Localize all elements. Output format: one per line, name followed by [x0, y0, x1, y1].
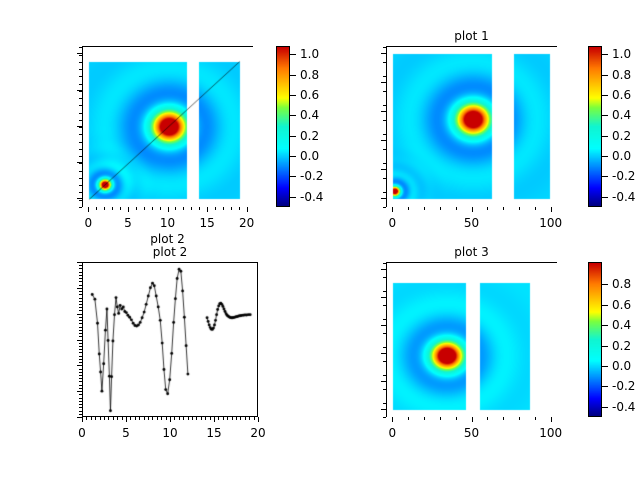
panel-bottom-left-xtick-minor	[113, 417, 114, 420]
panel-bottom-left-ytick-minor	[79, 327, 82, 328]
panel-top-right-ytick-minor	[383, 76, 386, 77]
panel-bottom-left-xticklabel: 15	[206, 427, 221, 439]
panel-top-left-colorbar-tick	[290, 156, 296, 157]
panel-top-left-colorbar-label: 0.8	[300, 69, 319, 81]
panel-bottom-left-xtick-minor	[210, 417, 211, 420]
panel-bottom-right-ytick	[381, 325, 386, 326]
panel-top-left-colorbar-label: 0.0	[300, 150, 319, 162]
panel-top-left-colorbar-gradient	[277, 47, 289, 206]
panel-bottom-left-xtick-minor	[157, 417, 158, 420]
panel-bottom-right-ytick-minor	[383, 347, 386, 348]
panel-top-left-xlabel: plot 2	[150, 233, 184, 245]
panel-bottom-right-xticklabel: 100	[539, 427, 562, 439]
panel-bottom-left-xtick-minor	[188, 417, 189, 420]
panel-top-left-ytick-minor	[79, 69, 82, 70]
panel-bottom-right-ytick	[381, 409, 386, 410]
panel-bottom-left-ytick-minor	[79, 346, 82, 347]
panel-top-right-xtick-minor	[456, 207, 457, 210]
panel-bottom-left-ytick-minor	[79, 330, 82, 331]
panel-top-right-colorbar-tick	[602, 95, 608, 96]
panel-top-left-ytick-minor	[79, 84, 82, 85]
panel-bottom-right-xtick	[472, 417, 473, 422]
panel-bottom-right-colorbar[interactable]	[588, 262, 602, 417]
panel-top-right-ytick-minor	[383, 62, 386, 63]
panel-top-right-colorbar-tick	[602, 75, 608, 76]
panel-top-right-colorbar-tick	[602, 197, 608, 198]
panel-bottom-left-ytick-minor	[79, 323, 82, 324]
panel-bottom-right-colorbar-label: -0.2	[612, 380, 635, 392]
panel-bottom-left-ytick	[77, 391, 82, 392]
panel-top-right-colorbar-label: 0.2	[612, 130, 631, 142]
panel-bottom-right-xtick-minor	[408, 417, 409, 420]
panel-top-right-colorbar-label: -0.2	[612, 170, 635, 182]
panel-bottom-left-xtick-minor	[196, 417, 197, 420]
panel-bottom-left-xtick-minor	[254, 417, 255, 420]
panel-top-right-ytick-minor	[383, 120, 386, 121]
panel-top-right-ytick-minor	[383, 134, 386, 135]
panel-bottom-left-xtick-minor	[139, 417, 140, 420]
panel-bottom-right-ytick-minor	[383, 333, 386, 334]
panel-top-right-xtick-minor	[503, 207, 504, 210]
panel-bottom-left-xtick-minor	[152, 417, 153, 420]
panel-bottom-left-xtick-minor	[240, 417, 241, 420]
panel-bottom-left-xtick-minor	[227, 417, 228, 420]
panel-bottom-left-ytick	[77, 365, 82, 366]
panel-bottom-left-xtick-minor	[179, 417, 180, 420]
panel-top-left-ytick-minor	[79, 192, 82, 193]
panel-top-left-colorbar-tick	[290, 136, 296, 137]
panel-bottom-right-xtick-minor	[440, 417, 441, 420]
panel-top-left-xticklabel: 10	[160, 217, 175, 229]
panel-top-right-xticklabel: 0	[389, 217, 397, 229]
panel-bottom-left-xtick-minor	[100, 417, 101, 420]
panel-top-left-ytick	[77, 53, 82, 54]
panel-top-right-ytick-minor	[383, 163, 386, 164]
panel-bottom-right-ytick	[381, 269, 386, 270]
panel-top-left-colorbar[interactable]	[276, 46, 290, 207]
panel-bottom-left-ytick-minor	[79, 378, 82, 379]
panel-bottom-right-colorbar-tick	[602, 325, 608, 326]
panel-top-left-colorbar-label: -0.2	[300, 170, 323, 182]
panel-top-left-ytick-minor	[79, 149, 82, 150]
panel-top-left-xtick	[88, 207, 89, 212]
panel-top-right-colorbar-label: 0.4	[612, 109, 631, 121]
panel-bottom-right-ytick-minor	[383, 375, 386, 376]
panel-bottom-left-xtick-minor	[144, 417, 145, 420]
panel-bottom-left-ytick-minor	[79, 349, 82, 350]
panel-bottom-right-ytick-minor	[383, 361, 386, 362]
panel-top-left-colorbar-tick	[290, 115, 296, 116]
panel-bottom-left-ytick	[77, 262, 82, 263]
panel-bottom-left-ytick-minor	[79, 265, 82, 266]
panel-bottom-left-xtick-minor	[249, 417, 250, 420]
panel-top-left-ytick-minor	[79, 55, 82, 56]
panel-top-right-ytick-minor	[383, 149, 386, 150]
panel-bottom-left-ytick-minor	[79, 294, 82, 295]
panel-top-right-colorbar[interactable]	[588, 46, 602, 207]
panel-top-right-ytick-minor	[383, 192, 386, 193]
panel-bottom-right-colorbar-label: 0.2	[612, 340, 631, 352]
panel-bottom-right-ytick-minor	[383, 291, 386, 292]
panel-bottom-right-colorbar-gradient	[589, 263, 601, 416]
panel-bottom-left-ytick-minor	[79, 320, 82, 321]
panel-top-right-xticklabel: 100	[539, 217, 562, 229]
panel-bottom-left-xtick	[214, 417, 215, 422]
panel-bottom-left-ytick-minor	[79, 285, 82, 286]
panel-top-left-ytick-minor	[79, 200, 82, 201]
panel-top-right-xtick-minor	[408, 207, 409, 210]
panel-bottom-left-ytick-minor	[79, 356, 82, 357]
panel-bottom-right-colorbar-tick	[602, 407, 608, 408]
panel-top-left-ytick-minor	[79, 62, 82, 63]
panel-bottom-left-xtick-minor	[104, 417, 105, 420]
panel-top-left-ytick-minor	[79, 91, 82, 92]
panel-bottom-right-ytick	[381, 353, 386, 354]
panel-top-left-xtick	[247, 207, 248, 212]
panel-top-left-xtick-minor	[112, 207, 113, 210]
panel-top-left-ytick-minor	[79, 47, 82, 48]
panel-bottom-left-xtick	[82, 417, 83, 422]
panel-bottom-right-xticklabel: 50	[464, 427, 479, 439]
panel-top-left-ytick	[77, 198, 82, 199]
panel-top-right-ytick	[381, 111, 386, 112]
panel-top-left-xticklabel: 15	[199, 217, 214, 229]
panel-bottom-right-heatmap	[387, 263, 558, 418]
panel-bottom-left-ytick-minor	[79, 291, 82, 292]
panel-top-right-xtick-minor	[424, 207, 425, 210]
panel-bottom-left-xtick-minor	[91, 417, 92, 420]
panel-top-right-colorbar-label: 1.0	[612, 48, 631, 60]
panel-top-left-xtick	[168, 207, 169, 212]
panel-bottom-right-xtick-minor	[424, 417, 425, 420]
panel-bottom-right-xtick-minor	[535, 417, 536, 420]
panel-bottom-right-colorbar-label: 0.0	[612, 360, 631, 372]
panel-bottom-left-xticklabel: 10	[162, 427, 177, 439]
panel-top-right-ytick-minor	[383, 105, 386, 106]
panel-top-left-xticklabel: 0	[85, 217, 93, 229]
panel-bottom-left-ytick-minor	[79, 278, 82, 279]
panel-bottom-left-ytick-minor	[79, 317, 82, 318]
panel-bottom-left-ytick-minor	[79, 304, 82, 305]
panel-bottom-left-xtick-minor	[223, 417, 224, 420]
panel-bottom-left-ytick-minor	[79, 381, 82, 382]
panel-bottom-left-ytick-minor	[79, 343, 82, 344]
panel-bottom-left-xtick	[170, 417, 171, 422]
panel-bottom-left-ytick-minor	[79, 385, 82, 386]
panel-bottom-right-xtick-minor	[519, 417, 520, 420]
panel-top-left-xticklabel: 20	[239, 217, 254, 229]
panel-top-left-xtick-minor	[231, 207, 232, 210]
panel-top-left-xtick-minor	[144, 207, 145, 210]
panel-top-left-xtick-minor	[120, 207, 121, 210]
panel-bottom-left-ytick-minor	[79, 369, 82, 370]
panel-top-left-ytick-minor	[79, 171, 82, 172]
panel-bottom-left-ytick-minor	[79, 307, 82, 308]
panel-bottom-left-ytick-minor	[79, 281, 82, 282]
panel-bottom-left-ytick-minor	[79, 362, 82, 363]
panel-top-left-heatmap	[83, 47, 254, 208]
panel-top-left-xtick	[128, 207, 129, 212]
panel-bottom-right-xtick-minor	[487, 417, 488, 420]
panel-bottom-left-ytick-minor	[79, 407, 82, 408]
panel-top-right-xtick-minor	[535, 207, 536, 210]
panel-top-left-xtick-minor	[223, 207, 224, 210]
panel-top-left-ytick-minor	[79, 127, 82, 128]
panel-top-right-colorbar-label: 0.0	[612, 150, 631, 162]
panel-top-right-xtick	[551, 207, 552, 212]
panel-top-left-ytick	[77, 126, 82, 127]
panel-top-right-xtick	[472, 207, 473, 212]
panel-top-left-ytick-minor	[79, 98, 82, 99]
panel-top-left-xtick-minor	[104, 207, 105, 210]
panel-bottom-left-ytick	[77, 314, 82, 315]
panel-top-left-ytick-minor	[79, 163, 82, 164]
panel-top-left-ytick-minor	[79, 113, 82, 114]
panel-top-right-colorbar-tick	[602, 156, 608, 157]
panel-top-left-colorbar-tick	[290, 75, 296, 76]
panel-bottom-left-xtick	[126, 417, 127, 422]
panel-top-left-xtick-minor	[199, 207, 200, 210]
panel-top-left-xtick-minor	[215, 207, 216, 210]
panel-top-left-xtick-minor	[191, 207, 192, 210]
panel-top-left-ytick-minor	[79, 76, 82, 77]
panel-top-left-xtick	[207, 207, 208, 212]
panel-bottom-left-xtick-minor	[201, 417, 202, 420]
panel-top-left-colorbar-label: -0.4	[300, 191, 323, 203]
panel-top-left-colorbar-tick	[290, 95, 296, 96]
panel-bottom-right-colorbar-label: -0.4	[612, 401, 635, 413]
panel-bottom-left-ytick-minor	[79, 268, 82, 269]
panel-top-left-axes[interactable]	[82, 46, 253, 207]
panel-bottom-right-xtick	[551, 417, 552, 422]
panel-bottom-right-colorbar-label: 0.6	[612, 299, 631, 311]
panel-bottom-left-xtick-minor	[95, 417, 96, 420]
panel-top-right-xtick-minor	[440, 207, 441, 210]
panel-top-left-xtick-minor	[152, 207, 153, 210]
panel-top-right-colorbar-tick	[602, 176, 608, 177]
panel-top-right-colorbar-label: 0.6	[612, 89, 631, 101]
panel-top-left-ytick-minor	[79, 105, 82, 106]
panel-bottom-left-ytick	[77, 417, 82, 418]
panel-bottom-right-ytick-minor	[383, 389, 386, 390]
panel-bottom-left-xtick-minor	[236, 417, 237, 420]
panel-bottom-left-ytick-minor	[79, 388, 82, 389]
panel-bottom-left-xtick-minor	[192, 417, 193, 420]
panel-bottom-left-xtick-minor	[108, 417, 109, 420]
panel-top-right-ytick	[381, 198, 386, 199]
panel-top-right-xtick-minor	[519, 207, 520, 210]
panel-top-right-title: plot 1	[454, 30, 488, 42]
panel-bottom-left-xtick-minor	[86, 417, 87, 420]
panel-bottom-left-xtick-minor	[218, 417, 219, 420]
panel-top-right-xtick	[392, 207, 393, 212]
panel-bottom-right-ytick-minor	[383, 263, 386, 264]
panel-top-right-colorbar-label: -0.4	[612, 191, 635, 203]
panel-bottom-right-xtick-minor	[503, 417, 504, 420]
panel-bottom-left-xtick-minor	[117, 417, 118, 420]
panel-bottom-left-ytick-minor	[79, 404, 82, 405]
panel-top-right-axes[interactable]	[386, 46, 557, 207]
panel-bottom-left-xtick-minor	[166, 417, 167, 420]
panel-bottom-left-ytick-minor	[79, 333, 82, 334]
panel-top-right-ytick	[381, 53, 386, 54]
panel-top-right-ytick	[381, 140, 386, 141]
panel-bottom-right-title: plot 3	[454, 246, 488, 258]
panel-top-left-xtick-minor	[160, 207, 161, 210]
panel-bottom-right-ytick-minor	[383, 305, 386, 306]
panel-bottom-left-ytick-minor	[79, 375, 82, 376]
panel-top-right-heatmap	[387, 47, 558, 208]
panel-bottom-left-xtick-minor	[122, 417, 123, 420]
panel-top-right-colorbar-tick	[602, 115, 608, 116]
panel-bottom-right-xtick	[392, 417, 393, 422]
panel-top-left-colorbar-label: 0.4	[300, 109, 319, 121]
panel-top-right-ytick	[381, 169, 386, 170]
panel-top-left-ytick-minor	[79, 185, 82, 186]
panel-top-right-ytick	[381, 82, 386, 83]
panel-bottom-left-ytick-minor	[79, 401, 82, 402]
panel-bottom-left-xtick-minor	[148, 417, 149, 420]
panel-top-left-ytick-minor	[79, 142, 82, 143]
panel-top-right-ytick-minor	[383, 178, 386, 179]
panel-bottom-right-xticklabel: 0	[389, 427, 397, 439]
panel-top-left-colorbar-label: 1.0	[300, 48, 319, 60]
panel-top-left-ytick-minor	[79, 120, 82, 121]
panel-bottom-right-xtick-minor	[456, 417, 457, 420]
panel-bottom-left-xticklabel: 5	[122, 427, 130, 439]
panel-bottom-right-ytick	[381, 297, 386, 298]
panel-bottom-left-ytick-minor	[79, 394, 82, 395]
panel-top-left-ytick	[77, 90, 82, 91]
panel-bottom-right-colorbar-tick	[602, 346, 608, 347]
panel-bottom-left-xtick-minor	[135, 417, 136, 420]
panel-top-left-xticklabel: 5	[124, 217, 132, 229]
panel-top-left-xtick-minor	[183, 207, 184, 210]
panel-top-left-xtick-minor	[136, 207, 137, 210]
panel-bottom-right-ytick	[381, 381, 386, 382]
panel-top-right-ytick-minor	[383, 207, 386, 208]
panel-bottom-left-ytick-minor	[79, 272, 82, 273]
panel-bottom-left-title: plot 2	[153, 246, 187, 258]
panel-bottom-left-ytick-minor	[79, 359, 82, 360]
panel-bottom-left-xtick-minor	[161, 417, 162, 420]
panel-top-left-ytick-minor	[79, 178, 82, 179]
panel-bottom-right-ytick-minor	[383, 403, 386, 404]
panel-top-right-colorbar-tick	[602, 54, 608, 55]
panel-bottom-left-xtick	[258, 417, 259, 422]
panel-top-left-colorbar-tick	[290, 176, 296, 177]
panel-bottom-left-ytick-minor	[79, 275, 82, 276]
panel-top-right-ytick-minor	[383, 47, 386, 48]
panel-bottom-left-ytick-minor	[79, 414, 82, 415]
panel-bottom-right-ytick-minor	[383, 277, 386, 278]
panel-top-left-ytick-minor	[79, 156, 82, 157]
panel-bottom-left-ytick-minor	[79, 310, 82, 311]
panel-bottom-left-ytick	[77, 340, 82, 341]
panel-bottom-left-xtick-minor	[205, 417, 206, 420]
panel-bottom-left-ytick-minor	[79, 372, 82, 373]
panel-top-left-ytick	[77, 162, 82, 163]
panel-bottom-left-ytick-minor	[79, 301, 82, 302]
panel-bottom-left-xticklabel: 20	[250, 427, 265, 439]
panel-bottom-right-colorbar-tick	[602, 305, 608, 306]
panel-bottom-left-lineplot	[83, 263, 259, 418]
panel-top-left-ytick-minor	[79, 134, 82, 135]
panel-bottom-right-colorbar-label: 0.8	[612, 278, 631, 290]
panel-bottom-right-colorbar-tick	[602, 284, 608, 285]
panel-top-right-xticklabel: 50	[464, 217, 479, 229]
panel-top-right-colorbar-label: 0.8	[612, 69, 631, 81]
panel-bottom-left-xtick-minor	[232, 417, 233, 420]
panel-top-right-xtick-minor	[487, 207, 488, 210]
panel-bottom-left-xticklabel: 0	[78, 427, 86, 439]
panel-bottom-left-ytick	[77, 288, 82, 289]
panel-top-left-colorbar-label: 0.6	[300, 89, 319, 101]
panel-top-left-xtick-minor	[96, 207, 97, 210]
panel-bottom-left-xtick-minor	[245, 417, 246, 420]
panel-top-left-colorbar-label: 0.2	[300, 130, 319, 142]
panel-bottom-left-ytick-minor	[79, 398, 82, 399]
panel-top-left-xtick-minor	[175, 207, 176, 210]
panel-top-right-ytick-minor	[383, 91, 386, 92]
panel-bottom-right-colorbar-tick	[602, 366, 608, 367]
panel-bottom-right-colorbar-tick	[602, 386, 608, 387]
panel-top-right-colorbar-tick	[602, 136, 608, 137]
panel-bottom-right-ytick-minor	[383, 417, 386, 418]
panel-bottom-left-xtick-minor	[183, 417, 184, 420]
panel-bottom-left-ytick-minor	[79, 411, 82, 412]
panel-bottom-left-ytick-minor	[79, 298, 82, 299]
panel-bottom-right-ytick-minor	[383, 319, 386, 320]
panel-top-left-ytick-minor	[79, 207, 82, 208]
panel-top-left-colorbar-tick	[290, 54, 296, 55]
figure-canvas: 0510152005101520plot 21.00.80.60.40.20.0…	[0, 0, 640, 480]
panel-top-left-xtick-minor	[239, 207, 240, 210]
panel-bottom-left-ytick-minor	[79, 352, 82, 353]
panel-top-left-colorbar-tick	[290, 197, 296, 198]
panel-top-right-colorbar-gradient	[589, 47, 601, 206]
panel-bottom-left-ytick-minor	[79, 336, 82, 337]
panel-bottom-left-xtick-minor	[174, 417, 175, 420]
panel-bottom-left-axes[interactable]	[82, 262, 258, 417]
panel-bottom-left-xtick-minor	[130, 417, 131, 420]
panel-bottom-right-axes[interactable]	[386, 262, 557, 417]
panel-bottom-right-colorbar-label: 0.4	[612, 319, 631, 331]
